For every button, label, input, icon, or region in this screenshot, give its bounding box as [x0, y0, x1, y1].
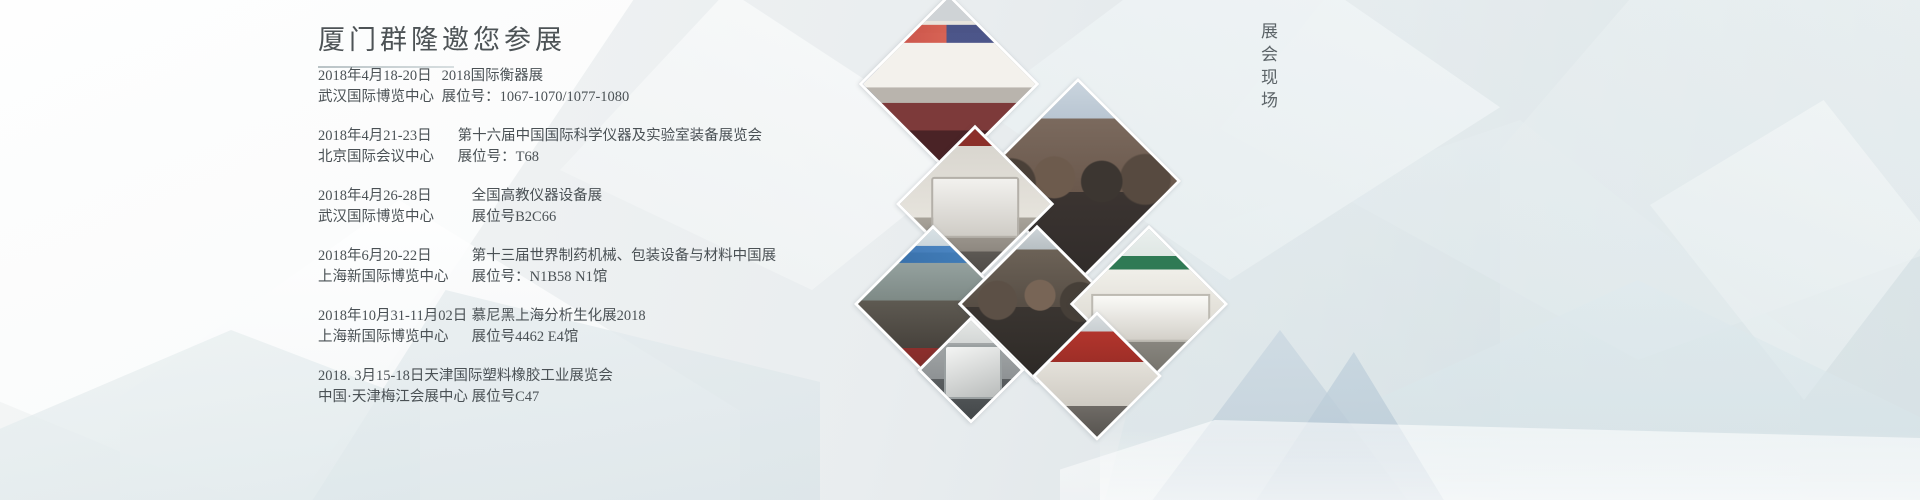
event-venue: 上海新国际博览中心: [318, 267, 468, 288]
event-date: 2018年4月21-23日: [318, 126, 454, 147]
photo-collage: [855, 0, 1275, 500]
event-booth: 展位号：1067-1070/1077-1080: [442, 87, 630, 108]
event-booth: 展位号4462 E4馆: [472, 327, 579, 348]
event-booth: 展位号：N1B58 N1馆: [472, 267, 608, 288]
event-name: 第十六届中国国际科学仪器及实验室装备展览会: [458, 126, 763, 147]
event-name: 2018国际衡器展: [442, 66, 544, 87]
event-name: 第十三届世界制药机械、包装设备与材料中国展: [472, 246, 777, 267]
event-venue: 中国·天津梅江会展中心: [318, 387, 468, 408]
event-date: 2018年4月18-20日: [318, 66, 438, 87]
event-venue: 武汉国际博览中心: [318, 207, 468, 228]
event-date: 2018年4月26-28日: [318, 186, 468, 207]
event-booth: 展位号B2C66: [472, 207, 557, 228]
event-date: 2018年6月20-22日: [318, 246, 468, 267]
event-name: 全国高教仪器设备展: [472, 186, 603, 207]
headline-block: 厦门群隆邀您参展: [318, 24, 738, 68]
event-booth: 展位号C47: [472, 387, 540, 408]
event-venue: 武汉国际博览中心: [318, 87, 438, 108]
event-booth: 展位号：T68: [458, 147, 539, 168]
exhibition-invitation-banner: 厦门群隆邀您参展 2018年4月18-20日 2018国际衡器展 武汉国际博览中…: [0, 0, 1920, 500]
bottom-gradient-overlay: [1100, 430, 1920, 500]
event-date: 2018年10月31-11月02日: [318, 306, 468, 327]
event-venue: 上海新国际博览中心: [318, 327, 468, 348]
event-venue: 北京国际会议中心: [318, 147, 454, 168]
page-title: 厦门群隆邀您参展: [318, 24, 738, 58]
event-name: 慕尼黑上海分析生化展2018: [472, 306, 646, 327]
